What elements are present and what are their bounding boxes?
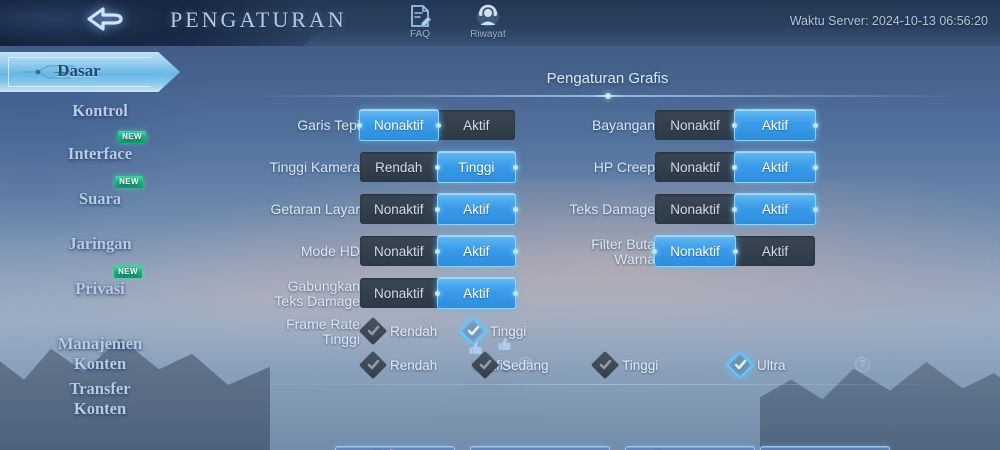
new-badge: NEW [114,266,142,278]
toggle-option-on[interactable]: Aktif [734,109,816,141]
toggle-option-off[interactable]: Nonaktif [360,278,438,308]
toggle-option-off[interactable]: Nonaktif [655,194,735,224]
toggle-option-off[interactable]: Nonaktif [655,110,735,140]
history-icon [463,2,513,29]
sidebar-item-transfer-konten[interactable]: Transfer Konten [0,359,200,419]
choice-label: Tinggi [622,358,658,373]
history-label: Riwayat [463,29,513,40]
header-icon-group: FAQ Riwayat [395,2,513,40]
sidebar-item-privasi[interactable]: NEW Privasi [0,279,200,298]
setting-label: Bayangan [495,110,655,140]
toggle-option-off[interactable]: Nonaktif [654,235,736,267]
setting-label: Tinggi Kamera [200,152,360,182]
section-title: Pengaturan Grafis [215,70,1000,87]
faq-icon [395,2,445,29]
sidebar-item-interface[interactable]: NEW Interface [0,144,200,163]
choice-grafis-tinggi[interactable]: Tinggi [595,350,658,380]
setting-label: Getaran Layar [200,194,360,224]
sidebar-item-jaringan[interactable]: Jaringan [0,234,200,253]
setting-label: Teks Damage [495,194,655,224]
toggle-option-on[interactable]: Aktif [735,236,815,266]
setting-label: Mode HD [200,236,360,266]
sidebar-item-kontrol[interactable]: Kontrol [0,101,200,120]
toggle-option-off[interactable]: Nonaktif [359,109,439,141]
setting-label: Gabungkan Teks Damage [200,278,360,309]
toggle-hp-creep[interactable]: Nonaktif Aktif [655,152,815,182]
server-time: Waktu Server: 2024-10-13 06:56:20 [790,14,988,28]
network-detection-button[interactable]: Deteksi Jaringan [470,446,610,450]
toggle-option-on[interactable]: Aktif [437,277,517,309]
setting-row-grafis: Grafis ? Rendah Sedang [215,350,915,380]
new-badge: NEW [118,131,146,143]
toggle-bayangan[interactable]: Nonaktif Aktif [655,110,815,140]
toggle-option-on[interactable]: Aktif [734,193,816,225]
toggle-option-off[interactable]: Nonaktif [655,152,735,182]
diamond-unchecked-icon [363,355,383,375]
help-icon[interactable]: ? [855,357,870,372]
back-arrow-icon[interactable] [78,3,138,37]
setting-row-hp-creep: HP Creep ? Nonaktif Aktif [515,152,815,182]
toggle-filter-buta-warna[interactable]: Nonaktif Aktif [655,236,815,266]
toggle-option-on[interactable]: Aktif [437,235,517,267]
choice-frame-rate-rendah[interactable]: Rendah [363,316,437,346]
choice-frame-rate-tinggi[interactable]: Tinggi [463,316,526,346]
setting-label: Filter Buta Warna [495,236,655,267]
sidebar-item-label: Dasar [0,61,158,81]
update-settings-button[interactable]: Pengaturan Update [625,446,755,450]
main-panel: Pengaturan Grafis Garis Tepi ? Nonaktif … [215,46,1000,450]
toggle-option-off[interactable]: Nonaktif [360,236,438,266]
sidebar-item-label: Kontrol [72,101,128,120]
setting-row-frame-rate-tinggi: Frame Rate Tinggi ? Rendah Tinggi [215,316,615,346]
sidebar-item-label: Suara [79,189,121,208]
sidebar: Dasar Kontrol NEW Interface NEW Suara Ja… [0,46,215,450]
diamond-unchecked-icon [363,321,383,341]
setting-label: HP Creep [495,152,655,182]
language-button[interactable]: Bahasa Indonesia [335,446,455,450]
setting-row-gabungkan-teks-damage: Gabungkan Teks Damage ? Nonaktif Aktif [215,278,515,308]
choice-label: Ultra [757,358,786,373]
sidebar-item-suara[interactable]: NEW Suara [0,189,200,208]
choice-grafis-ultra[interactable]: Ultra [730,350,786,380]
bottom-divider [235,384,980,385]
sidebar-item-dasar[interactable]: Dasar [0,52,180,92]
toggle-garis-tepi[interactable]: Nonaktif Aktif [360,110,515,140]
settings-screen: PENGATURAN FAQ [0,0,1000,450]
page-title: PENGATURAN [170,7,347,33]
setting-row-tinggi-kamera: Tinggi Kamera ? Rendah Tinggi [215,152,515,182]
sidebar-item-label: Jaringan [68,234,131,253]
sidebar-item-label: Privasi [75,279,125,298]
choice-grafis-sedang[interactable]: Sedang [475,350,549,380]
toggle-option-on[interactable]: Aktif [437,193,517,225]
toggle-option-low[interactable]: Rendah [360,152,438,182]
sidebar-item-label: Interface [68,144,132,163]
setting-row-teks-damage: Teks Damage ? Nonaktif Aktif [515,194,815,224]
toggle-getaran-layar[interactable]: Nonaktif Aktif [360,194,515,224]
choice-label: Rendah [390,324,437,339]
sidebar-item-label: Transfer Konten [69,379,130,418]
faq-button[interactable]: FAQ [395,2,445,40]
diamond-checked-icon [463,321,483,341]
choice-label: Sedang [502,358,549,373]
setting-row-garis-tepi: Garis Tepi ? Nonaktif Aktif [215,110,515,140]
toggle-tinggi-kamera[interactable]: Rendah Tinggi [360,152,515,182]
new-badge: NEW [115,176,143,188]
choice-label: Rendah [390,358,437,373]
diamond-unchecked-icon [595,355,615,375]
section-divider [255,95,960,97]
setting-label: Frame Rate Tinggi [200,316,360,347]
faq-label: FAQ [395,29,445,40]
toggle-mode-hd[interactable]: Nonaktif Aktif [360,236,515,266]
toggle-option-off[interactable]: Nonaktif [360,194,438,224]
diamond-checked-icon [730,355,750,375]
header-bar: PENGATURAN FAQ [0,0,1000,46]
choice-grafis-rendah[interactable]: Rendah [363,350,437,380]
setting-label: Garis Tepi [200,110,360,140]
toggle-gabungkan-teks-damage[interactable]: Nonaktif Aktif [360,278,515,308]
setting-row-mode-hd: Mode HD ? Nonaktif Aktif [215,236,515,266]
setting-row-filter-buta-warna: Filter Buta Warna ? Nonaktif Aktif [515,236,815,266]
toggle-teks-damage[interactable]: Nonaktif Aktif [655,194,815,224]
toggle-option-high[interactable]: Tinggi [437,151,517,183]
history-button[interactable]: Riwayat [463,2,513,40]
toggle-option-on[interactable]: Aktif [734,151,816,183]
recommended-thumbs-up-icon [497,336,513,352]
setting-row-getaran-layar: Getaran Layar ? Nonaktif Aktif [215,194,515,224]
close-game-button[interactable]: Tutup Game [760,446,890,450]
diamond-unchecked-icon [475,355,495,375]
setting-row-bayangan: Bayangan ? Nonaktif Aktif [515,110,815,140]
